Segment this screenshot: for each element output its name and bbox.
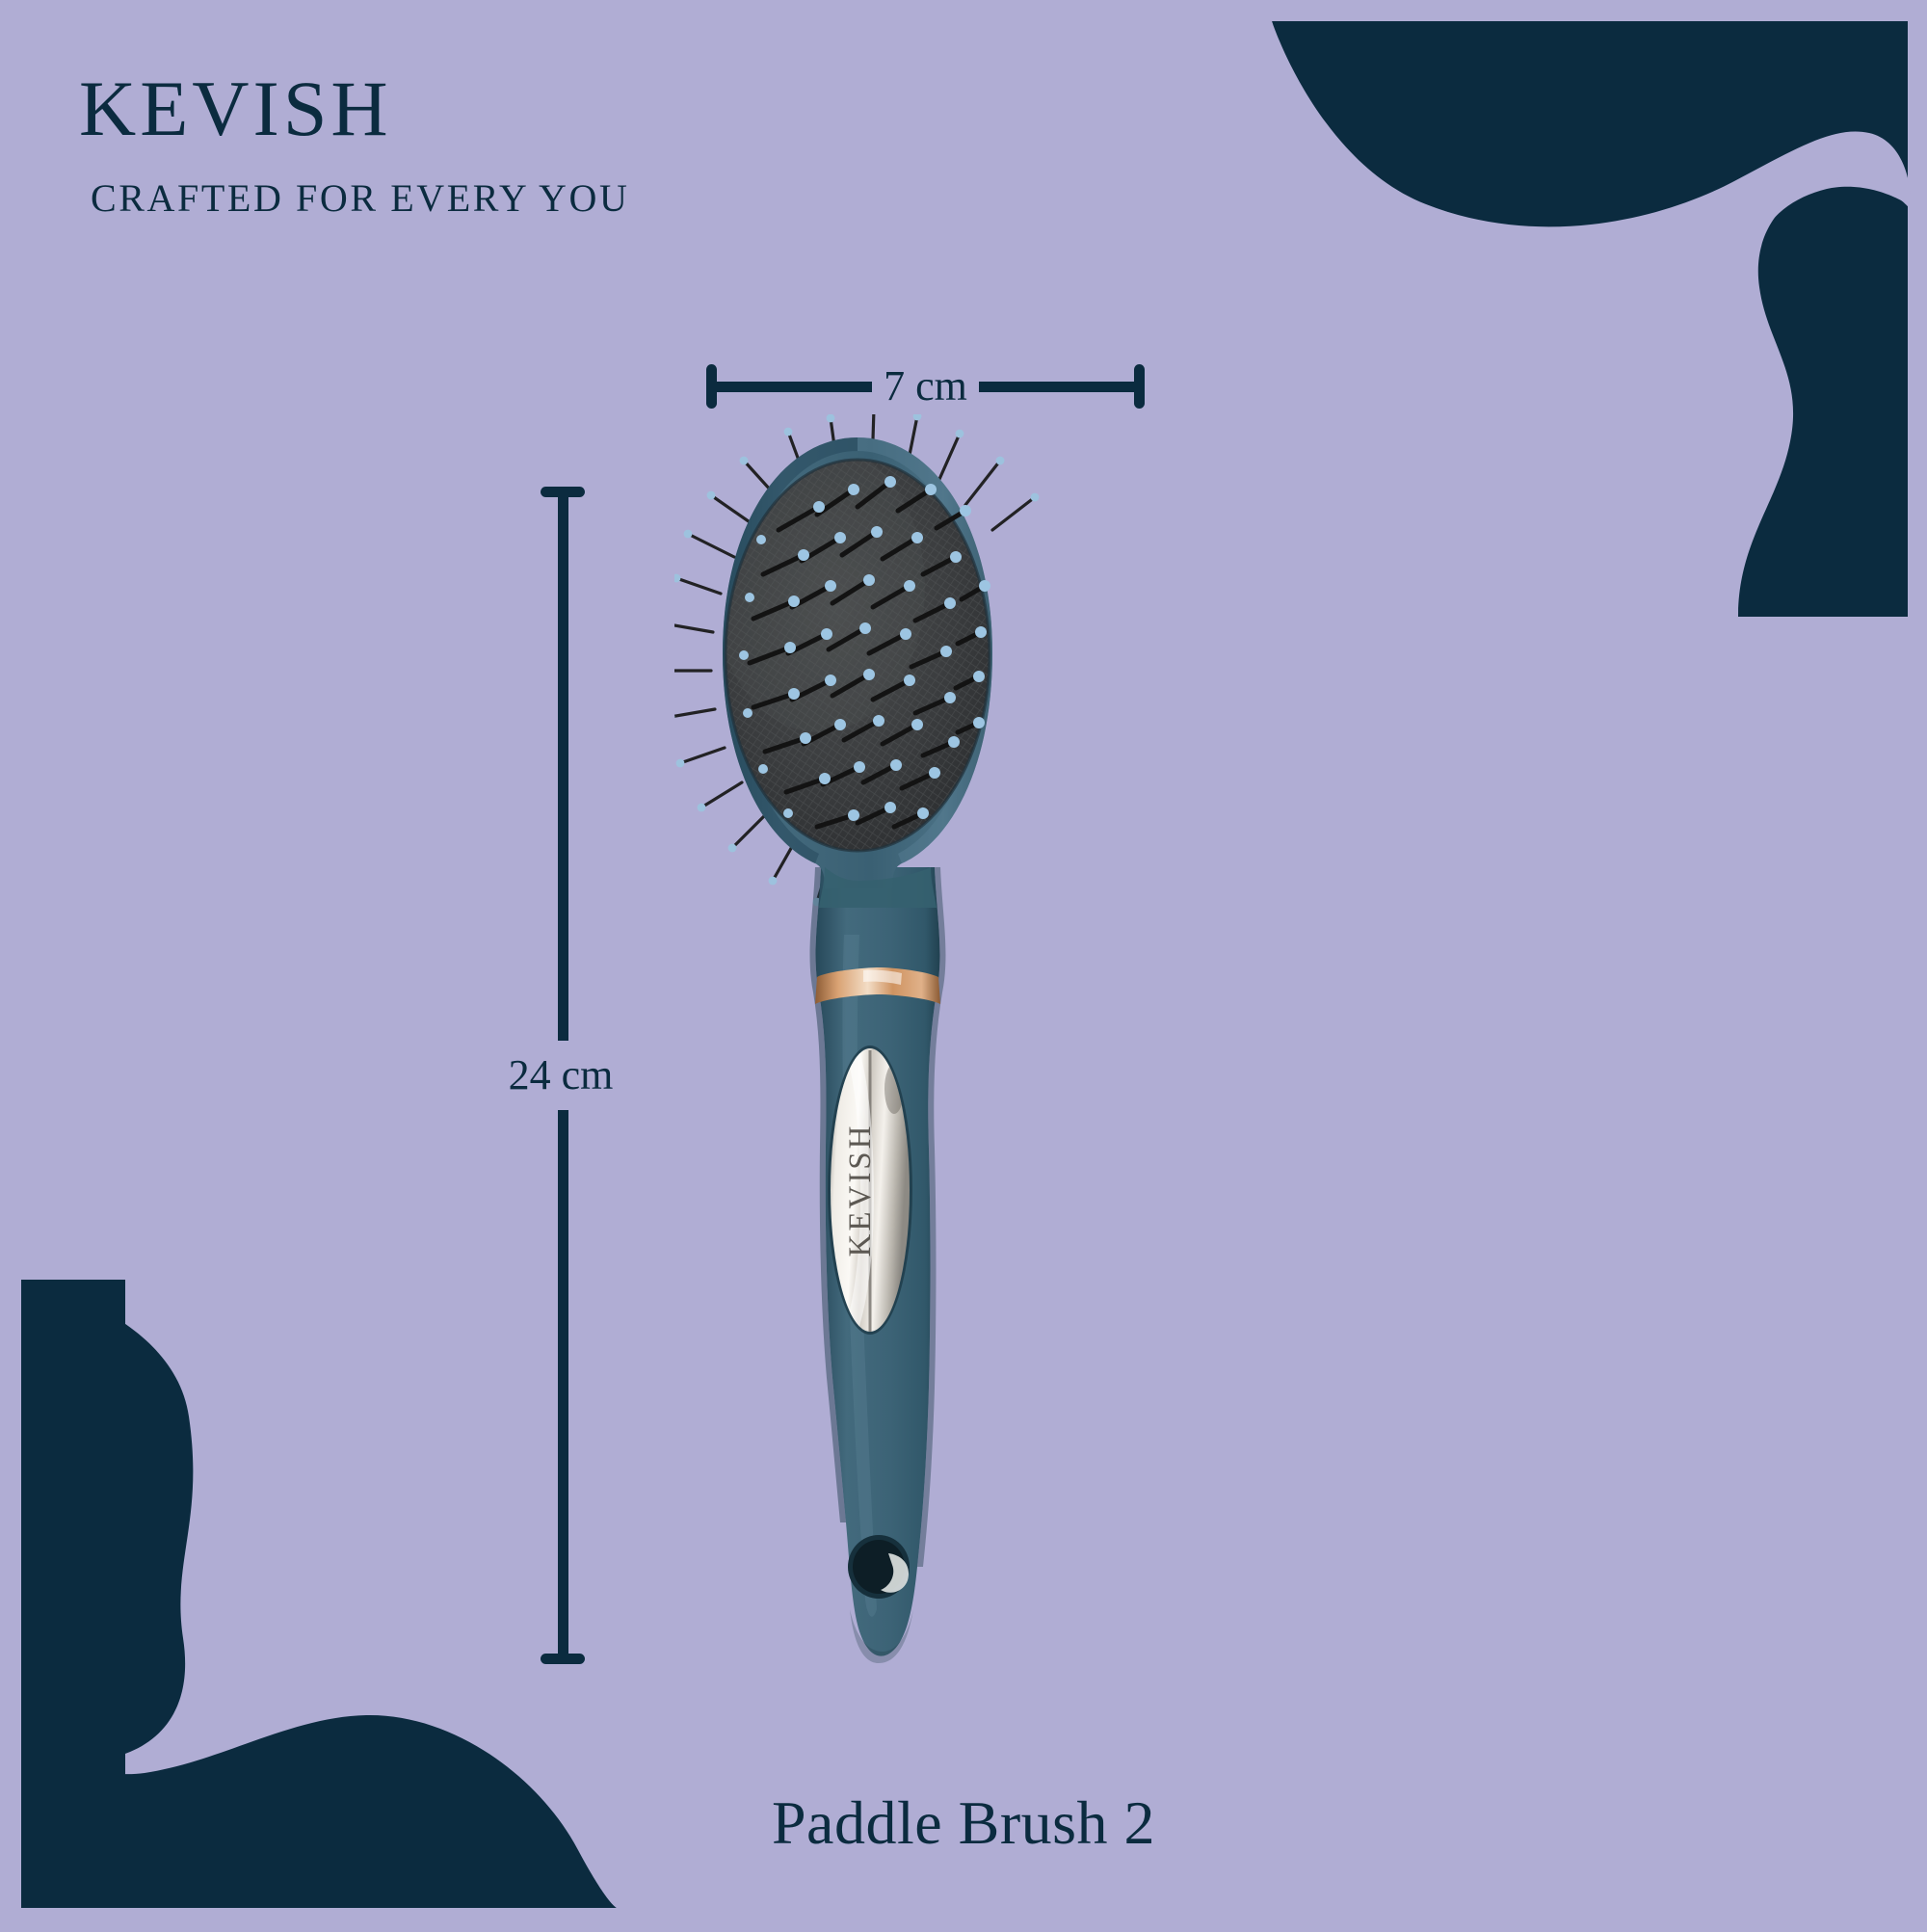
product-image-paddle-brush: KEVISH: [674, 414, 1079, 1696]
dimension-height-bar-bottom: [558, 1110, 568, 1654]
dimension-width: 7 cm: [706, 358, 1145, 414]
product-title: Paddle Brush 2: [0, 1787, 1927, 1859]
brand-name: KEVISH: [79, 69, 629, 148]
brand-tagline: CRAFTED FOR EVERY YOU: [91, 175, 629, 221]
dimension-height-cap-bottom: [541, 1654, 585, 1664]
dimension-width-label: 7 cm: [872, 365, 979, 408]
handle-engraving-text: KEVISH: [843, 1124, 878, 1257]
dimension-height: 24 cm: [540, 487, 586, 1664]
dimension-width-bar-right: [979, 382, 1134, 392]
dimension-height-bar-top: [558, 497, 568, 1041]
corner-blob-top-right-icon: [1233, 0, 1927, 617]
dimension-height-cap-top: [541, 487, 585, 497]
poster-canvas: KEVISH CRAFTED FOR EVERY YOU 7 cm 24 cm: [0, 0, 1927, 1927]
dimension-width-bar-left: [717, 382, 872, 392]
brand-block: KEVISH CRAFTED FOR EVERY YOU: [79, 69, 629, 221]
dimension-width-cap-right: [1134, 364, 1145, 409]
dimension-height-label: 24 cm: [509, 1041, 614, 1110]
dimension-width-cap-left: [706, 364, 717, 409]
handle-nameplate: KEVISH: [828, 1045, 912, 1335]
handle-hanging-hole: [848, 1535, 910, 1599]
